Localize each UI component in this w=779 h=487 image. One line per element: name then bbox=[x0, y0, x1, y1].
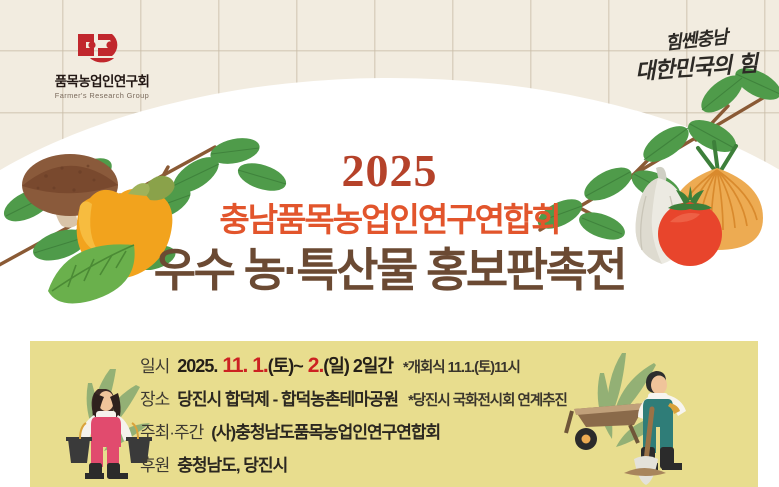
info-row-date: 일시 2025. 11. 1. (토)~ 2. (일) 2일간 *개회식 11.… bbox=[140, 352, 567, 385]
info-date-start-day: (토)~ bbox=[268, 352, 303, 378]
info-label-place: 장소 bbox=[140, 385, 169, 410]
calligraphy-slogan: 힘쎈충남 대한민국의 힘 bbox=[635, 26, 757, 82]
fd-monogram-logo-icon bbox=[74, 30, 130, 72]
info-rows: 일시 2025. 11. 1. (토)~ 2. (일) 2일간 *개회식 11.… bbox=[140, 352, 567, 484]
event-year: 2025 bbox=[0, 148, 779, 194]
info-row-place: 장소 당진시 합덕제 - 합덕농촌테마공원 *당진시 국화전시회 연계추진 bbox=[140, 385, 567, 418]
title-block: 2025 충남품목농업인연구연합회 우수 농·특산물 홍보판촉전 bbox=[0, 148, 779, 295]
info-date-end-day: (일) 2일간 bbox=[323, 352, 393, 378]
shovel-icon bbox=[634, 409, 658, 485]
info-label-date: 일시 bbox=[140, 352, 169, 377]
wheelbarrow-icon bbox=[566, 403, 648, 450]
info-value-host: (사)충청남도품목농업인연구연합회 bbox=[211, 418, 440, 443]
info-panel: 일시 2025. 11. 1. (토)~ 2. (일) 2일간 *개회식 11.… bbox=[30, 341, 758, 487]
info-note-place: *당진시 국화전시회 연계추진 bbox=[408, 389, 567, 410]
male-farmer-with-shovel-and-wheelbarrow-icon bbox=[564, 347, 744, 487]
farmer-figure bbox=[80, 389, 132, 479]
event-headline: 우수 농·특산물 홍보판촉전 bbox=[0, 246, 779, 296]
info-date-start: 11. 1. bbox=[222, 354, 267, 378]
info-date-prefix: 2025. bbox=[177, 356, 217, 377]
info-row-host: 주최·주간 (사)충청남도품목농업인연구연합회 bbox=[140, 418, 567, 451]
info-date-end: 2. bbox=[308, 354, 324, 378]
info-label-host: 주최·주간 bbox=[140, 418, 203, 443]
info-note-date: *개회식 11.1.(토)11시 bbox=[403, 356, 520, 377]
info-label-sponsor: 후원 bbox=[140, 451, 169, 476]
organization-title: 충남품목농업인연구연합회 bbox=[0, 203, 779, 238]
logo-english-name: Farmer's Research Group bbox=[38, 91, 166, 100]
farmer-figure bbox=[638, 371, 686, 470]
logo-korean-name: 품목농업인연구회 bbox=[38, 75, 166, 90]
info-row-sponsor: 후원 충청남도, 당진시 bbox=[140, 451, 567, 484]
foliage-icon bbox=[598, 353, 670, 447]
logo-block: 품목농업인연구회 Farmer's Research Group bbox=[38, 30, 166, 100]
poster-canvas: 품목농업인연구회 Farmer's Research Group 힘쎈충남 대한… bbox=[0, 0, 779, 487]
info-value-sponsor: 충청남도, 당진시 bbox=[177, 451, 287, 476]
info-value-place: 당진시 합덕제 - 합덕농촌테마공원 bbox=[177, 385, 398, 410]
